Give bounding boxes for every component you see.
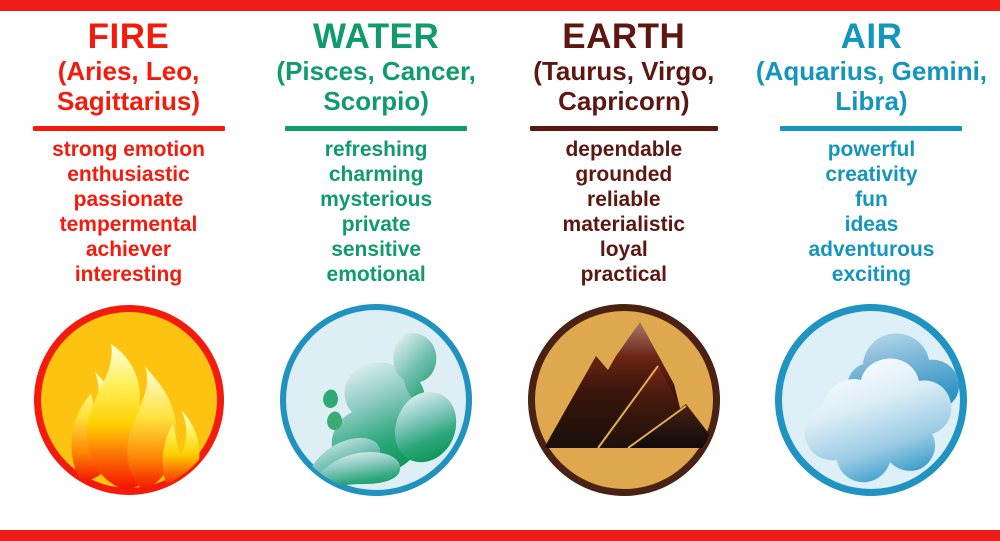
trait-item: exciting bbox=[808, 263, 934, 288]
trait-item: achiever bbox=[52, 238, 205, 263]
top-border-bar bbox=[0, 0, 1000, 11]
bottom-border-bar bbox=[0, 530, 1000, 541]
trait-item: charming bbox=[320, 163, 432, 188]
element-signs-water: (Pisces, Cancer, Scorpio) bbox=[256, 57, 496, 117]
element-column-fire: FIRE (Aries, Leo, Sagittarius) strong em… bbox=[6, 19, 251, 500]
trait-item: materialistic bbox=[563, 213, 686, 238]
trait-list-earth: dependable grounded reliable materialist… bbox=[563, 138, 686, 288]
element-columns: FIRE (Aries, Leo, Sagittarius) strong em… bbox=[0, 11, 1000, 530]
elements-infographic: FIRE (Aries, Leo, Sagittarius) strong em… bbox=[0, 0, 1000, 541]
trait-item: emotional bbox=[320, 263, 432, 288]
element-badge-water bbox=[276, 300, 476, 500]
trait-item: ideas bbox=[808, 213, 934, 238]
trait-item: tempermental bbox=[52, 213, 205, 238]
element-badge-fire bbox=[29, 300, 229, 500]
trait-item: practical bbox=[563, 263, 686, 288]
element-column-earth: EARTH (Taurus, Virgo, Capricorn) dependa… bbox=[501, 19, 746, 500]
trait-item: mysterious bbox=[320, 188, 432, 213]
trait-item: reliable bbox=[563, 188, 686, 213]
mountain-icon bbox=[524, 300, 724, 500]
trait-item: passionate bbox=[52, 188, 205, 213]
trait-list-fire: strong emotion enthusiastic passionate t… bbox=[52, 138, 205, 288]
element-signs-fire: (Aries, Leo, Sagittarius) bbox=[9, 57, 249, 117]
divider-rule-earth bbox=[530, 126, 718, 131]
trait-item: grounded bbox=[563, 163, 686, 188]
trait-item: creativity bbox=[808, 163, 934, 188]
element-column-air: AIR (Aquarius, Gemini, Libra) powerful c… bbox=[749, 19, 994, 500]
trait-item: dependable bbox=[563, 138, 686, 163]
trait-item: adventurous bbox=[808, 238, 934, 263]
water-splash-icon bbox=[276, 300, 476, 500]
divider-rule-water bbox=[285, 126, 467, 131]
trait-item: private bbox=[320, 213, 432, 238]
cloud-icon bbox=[771, 300, 971, 500]
element-signs-earth: (Taurus, Virgo, Capricorn) bbox=[504, 57, 744, 117]
element-title-fire: FIRE bbox=[88, 19, 170, 54]
divider-rule-fire bbox=[33, 126, 225, 131]
element-title-water: WATER bbox=[313, 19, 439, 54]
trait-item: fun bbox=[808, 188, 934, 213]
trait-item: interesting bbox=[52, 263, 205, 288]
flame-icon bbox=[29, 300, 229, 500]
divider-rule-air bbox=[780, 126, 962, 131]
trait-item: strong emotion bbox=[52, 138, 205, 163]
element-column-water: WATER (Pisces, Cancer, Scorpio) refreshi… bbox=[254, 19, 499, 500]
element-title-air: AIR bbox=[841, 19, 903, 54]
element-title-earth: EARTH bbox=[562, 19, 685, 54]
trait-item: refreshing bbox=[320, 138, 432, 163]
trait-item: powerful bbox=[808, 138, 934, 163]
trait-item: enthusiastic bbox=[52, 163, 205, 188]
element-badge-air bbox=[771, 300, 971, 500]
element-signs-air: (Aquarius, Gemini, Libra) bbox=[751, 57, 991, 117]
trait-list-water: refreshing charming mysterious private s… bbox=[320, 138, 432, 288]
trait-item: loyal bbox=[563, 238, 686, 263]
trait-list-air: powerful creativity fun ideas adventurou… bbox=[808, 138, 934, 288]
element-badge-earth bbox=[524, 300, 724, 500]
trait-item: sensitive bbox=[320, 238, 432, 263]
